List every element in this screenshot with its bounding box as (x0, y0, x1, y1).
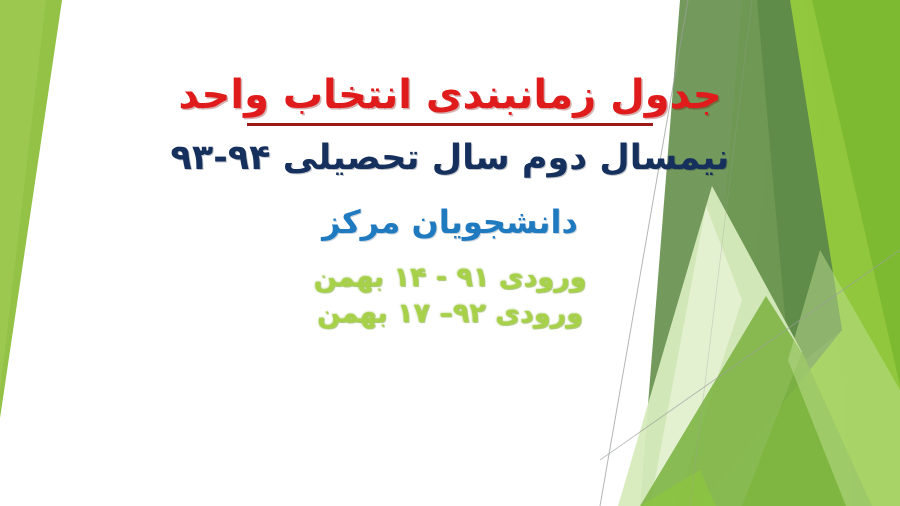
background-decoration (0, 0, 900, 506)
slide-title-underline (247, 123, 653, 126)
hairline-diagonal-upper (600, 0, 688, 506)
entry-line-1: ورودی ۹۱ - ۱۴ بهمن (314, 264, 587, 292)
right-sage-green-band (640, 0, 842, 506)
left-green-wedge-accent (0, 0, 62, 418)
slide-title-text: جدول زمانبندی انتخاب واحد (178, 72, 721, 118)
right-yellow-green-column (700, 0, 900, 506)
entry-line-2: ورودی ۹۲– ۱۷ بهمن (317, 300, 583, 328)
hairline-diagonal-edge (690, 0, 752, 506)
slide-canvas: جدول زمانبندی انتخاب واحد نیمسال دوم سال… (0, 0, 900, 506)
right-bright-green-wedge (806, 0, 900, 506)
left-green-wedge-shape (0, 0, 62, 418)
right-bright-green-base (726, 0, 900, 506)
slide-heading: دانشجویان مرکز (322, 206, 578, 240)
right-dark-sage-overlap (757, 0, 842, 372)
right-light-wash (788, 250, 900, 506)
slide-text-stack: جدول زمانبندی انتخاب واحد نیمسال دوم سال… (0, 0, 900, 506)
slide-subtitle: نیمسال دوم سال تحصیلی ۹۴-۹۳ (171, 140, 730, 177)
right-mid-green-lower (640, 296, 872, 506)
slide-title: جدول زمانبندی انتخاب واحد (178, 74, 721, 126)
right-pale-green-sheet (618, 186, 802, 506)
bottom-green-toe (640, 470, 716, 506)
hairline-diagonal-lower (600, 250, 900, 460)
right-pale-green-sliver (650, 206, 742, 506)
